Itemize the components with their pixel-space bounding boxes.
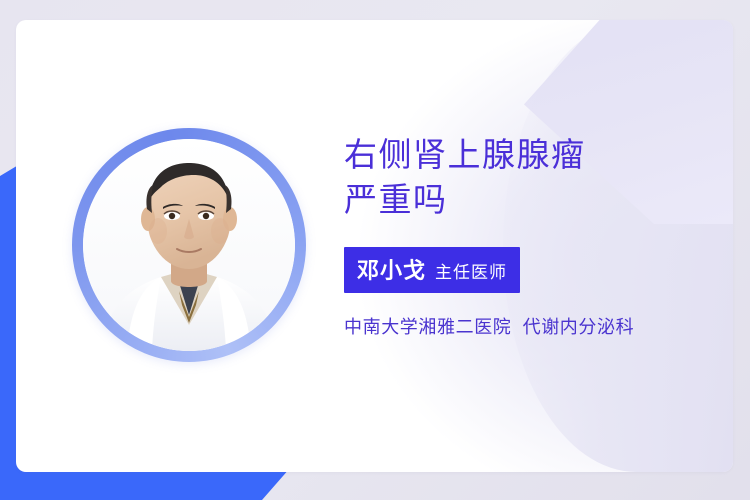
page-title: 右侧肾上腺腺瘤 严重吗	[344, 132, 714, 222]
doctor-portrait-image	[83, 139, 295, 351]
doctor-name: 邓小戈	[357, 253, 426, 285]
doctor-rank: 主任医师	[435, 258, 507, 283]
avatar	[72, 128, 306, 362]
text-content: 右侧肾上腺腺瘤 严重吗 邓小戈 主任医师 中南大学湘雅二医院 代谢内分泌科	[344, 132, 714, 339]
doctor-intro-card-stage: 右侧肾上腺腺瘤 严重吗 邓小戈 主任医师 中南大学湘雅二医院 代谢内分泌科	[0, 0, 750, 500]
doctor-affiliation: 中南大学湘雅二医院 代谢内分泌科	[344, 313, 714, 339]
avatar-photo-frame	[83, 139, 295, 351]
doctor-badge: 邓小戈 主任医师	[344, 247, 520, 293]
